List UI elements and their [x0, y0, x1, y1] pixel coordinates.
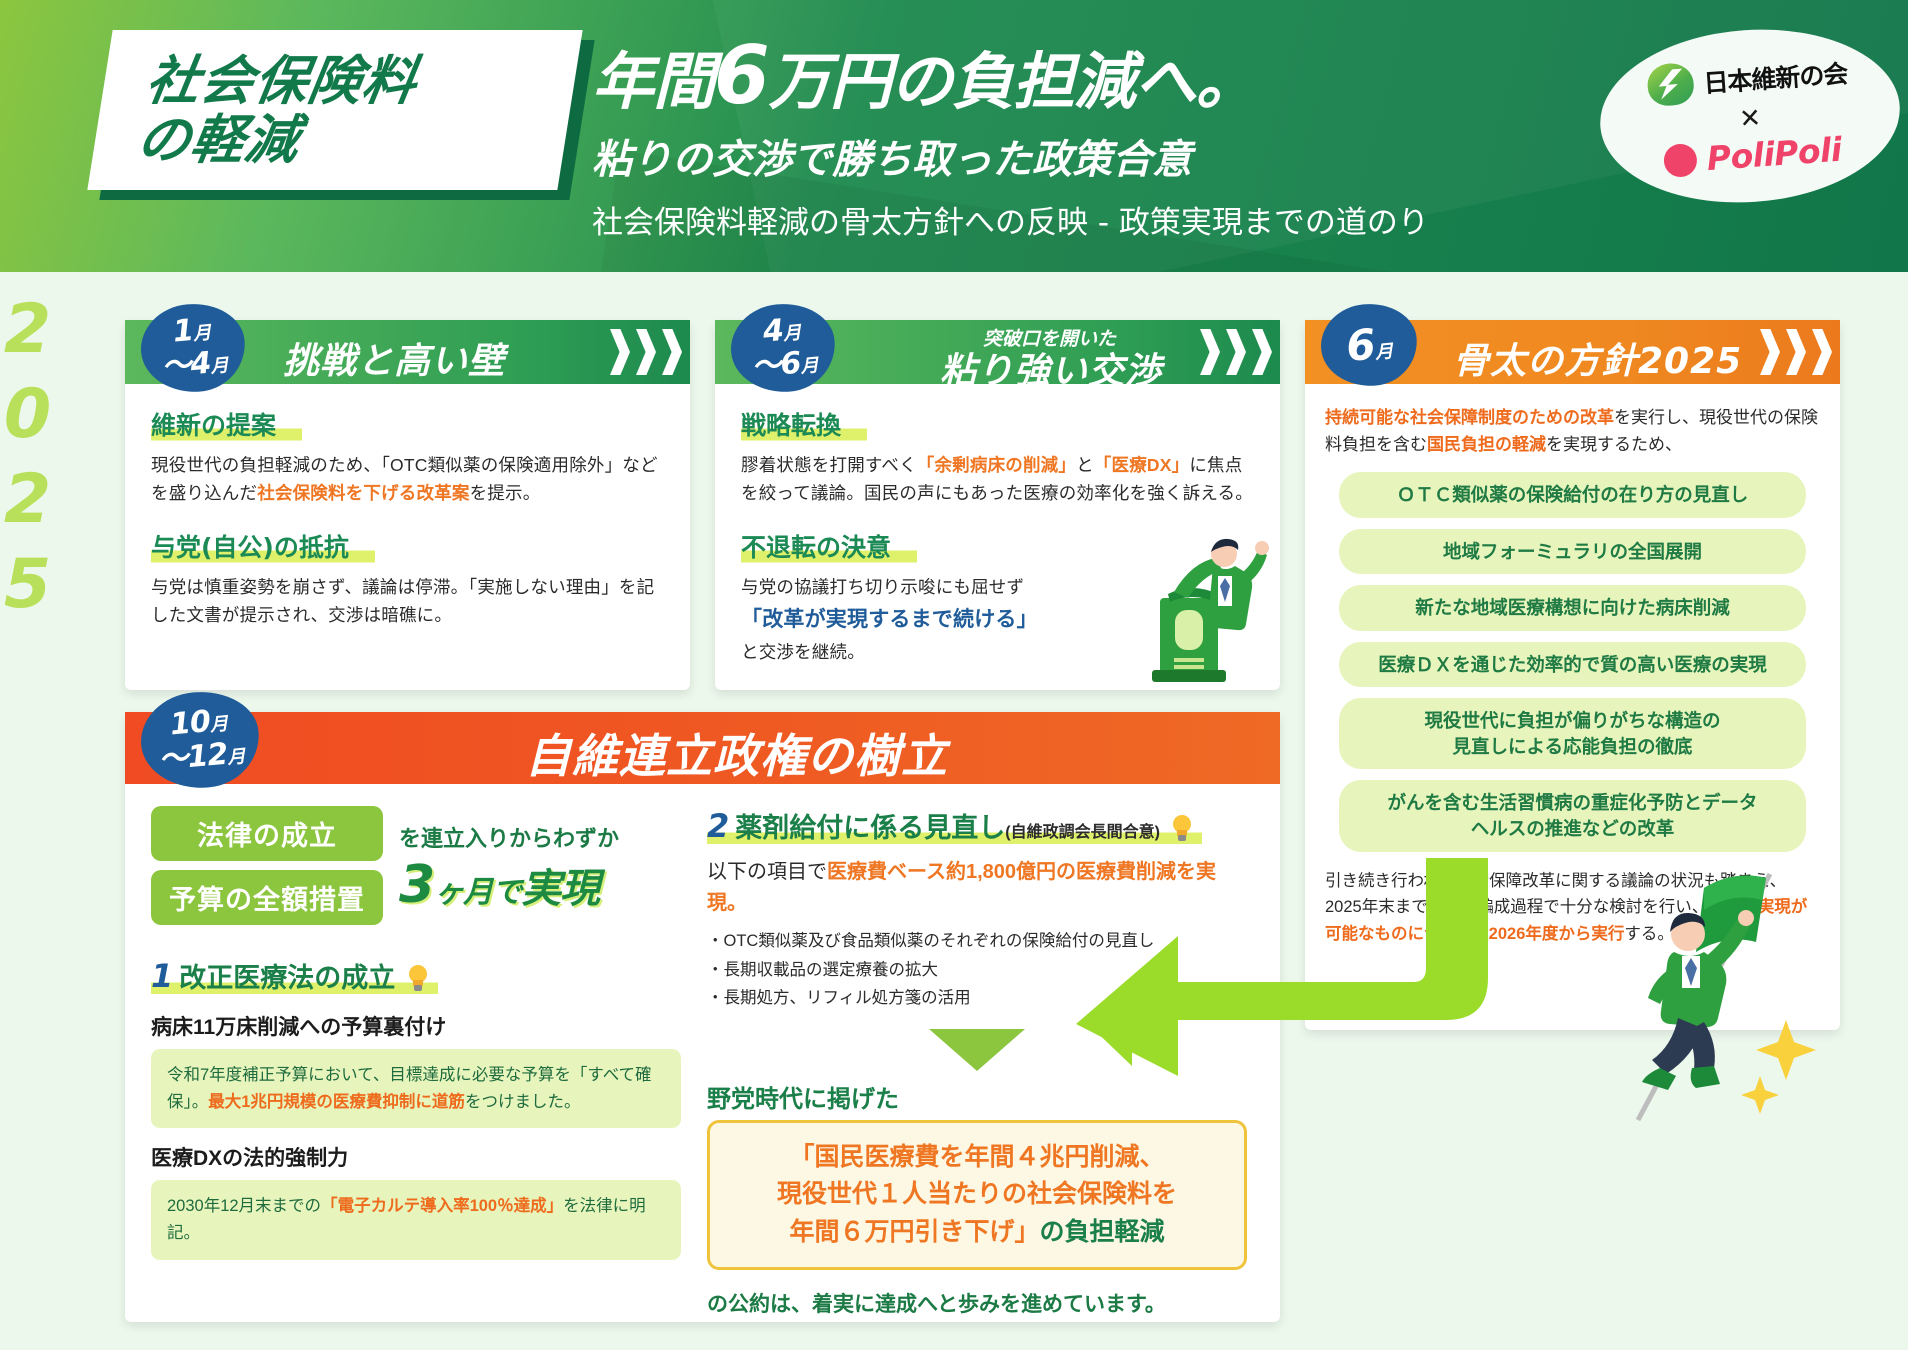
card1-section2-heading: 与党(自公)の抵抗	[151, 528, 375, 564]
flow-arrow-left-icon	[1060, 858, 1620, 1118]
item1-block: 1改正医療法の成立 病床11万床削減への予算裏付け 令和7年度補正予算において、…	[151, 956, 681, 1260]
month-badge-oct-dec: 10月 〜12月	[137, 687, 263, 793]
party-logo-row: 日本維新の会	[1646, 51, 1848, 107]
month-badge-line1: 4月	[762, 315, 801, 348]
month-num-2: 〜12	[157, 737, 229, 778]
month-badge-jan-apr: 1月 〜4月	[137, 300, 248, 397]
three-month-number: 3	[399, 855, 434, 915]
three-month-verb: 実現	[521, 866, 599, 912]
chip-budget-secured: 予算の全額措置	[151, 870, 383, 925]
card-oct-dec-title: 自維連立政権の樹立	[525, 720, 948, 786]
chevron-right-icon-group-1	[540, 320, 690, 384]
item1-subheading-2: 医療DXの法的強制力	[151, 1142, 681, 1172]
month-badge-line1: 1月	[172, 315, 211, 348]
month-badge-apr-jun: 4月 〜6月	[727, 300, 838, 397]
header-headline: 年間6万円の負担減へ。	[592, 34, 1612, 117]
promise-callout-box: 「国民医療費を年間４兆円削減、 現役世代１人当たりの社会保険料を 年間６万円引き…	[707, 1120, 1247, 1271]
card-june-title: 骨太の方針2025	[1453, 332, 1742, 384]
item1-subheading-1: 病床11万床削減への予算裏付け	[151, 1011, 681, 1041]
month-unit-1: 月	[1374, 341, 1393, 363]
polipoli-dot-icon	[1663, 142, 1698, 177]
promise-line3-highlight: 年間６万円引き下げ」	[789, 1218, 1039, 1246]
policy-pill: 地域フォーミュラリの全国展開	[1339, 529, 1806, 575]
card2-section1-heading: 戦略転換	[741, 406, 867, 442]
header-text-block: 年間6万円の負担減へ。 粘りの交渉で勝ち取った政策合意 社会保険料軽減の骨太方針…	[592, 34, 1612, 242]
month-unit-2: 月	[210, 355, 229, 377]
party-logo-label: 日本維新の会	[1702, 54, 1848, 100]
card-jan-apr-band: 1月 〜4月 挑戦と高い壁	[125, 320, 690, 384]
month-unit-1: 月	[192, 322, 211, 344]
policy-pill: 医療ＤＸを通じた効率的で質の高い医療の実現	[1339, 642, 1806, 688]
page-title: 社会保険料 の軽減	[106, 34, 581, 189]
partner-logo-label: PoliPoli	[1705, 129, 1842, 177]
achievement-chips-row: 法律の成立 予算の全額措置 を連立入りからわずか 3ヶ月で実現	[151, 806, 681, 934]
item1-note-1: 令和7年度補正予算において、目標達成に必要な予算を「すべて確保」。最大1兆円規模…	[151, 1049, 681, 1128]
month-unit-1: 月	[782, 322, 801, 344]
item1-note2-text-a: 2030年12月末までの	[167, 1197, 321, 1215]
card3-lead-highlight-2: 国民負担の軽減	[1427, 435, 1546, 454]
promise-line3-tail: の負担軽減	[1040, 1218, 1165, 1246]
item1-note-2: 2030年12月末までの「電子カルテ導入率100％達成」を法律に明記。	[151, 1180, 681, 1259]
month-unit-2: 月	[800, 355, 819, 377]
item1-note2-highlight: 「電子カルテ導入率100％達成」	[321, 1197, 563, 1215]
achievement-chips: 法律の成立 予算の全額措置	[151, 806, 383, 934]
three-month-particle: で	[492, 875, 521, 910]
card-apr-jun-band: 4月 〜6月 突破口を開いた 粘り強い交渉	[715, 320, 1280, 384]
card-jan-apr: 1月 〜4月 挑戦と高い壁 維新の提案 現役世代の負担軽減のため、「OTC類似薬…	[125, 320, 690, 690]
headline-prefix: 年間	[592, 45, 714, 118]
card2-s2-quote: 「改革が実現するまで続ける」	[741, 603, 1116, 637]
promise-line-1: 「国民医療費を年間４兆円削減、	[728, 1139, 1226, 1177]
partner-logo-row: PoliPoli	[1663, 129, 1843, 180]
headline-suffix: 万円の負担減へ。	[769, 45, 1257, 118]
card-apr-jun: 4月 〜6月 突破口を開いた 粘り強い交渉 戦略転換 膠着状態を打開すべく「余剰…	[715, 320, 1280, 690]
month-num-1: 1	[172, 313, 195, 350]
card3-lead-paragraph: 持続可能な社会保障制度のための改革を実行し、現役世代の保険料負担を含む国民負担の…	[1325, 404, 1820, 458]
item1-note1-text-b: をつけました。	[465, 1093, 581, 1111]
card-apr-jun-body: 戦略転換 膠着状態を打開すべく「余剰病床の削減」と「医療DX」に焦点を絞って議論…	[715, 384, 1280, 686]
month-badge-line1: 10月	[169, 706, 228, 741]
card3-lead-highlight-1: 持続可能な社会保障制度のための改革	[1325, 408, 1614, 427]
policy-pill: がんを含む生活習慣病の重症化予防とデータ ヘルスの推進などの改革	[1339, 780, 1806, 851]
card4-left-column: 法律の成立 予算の全額措置 を連立入りからわずか 3ヶ月で実現 1改正医療法の成…	[151, 806, 681, 1318]
chip-law-enacted: 法律の成立	[151, 806, 383, 861]
card1-section2-paragraph: 与党は慎重姿勢を崩さず、議論は停滞。「実施しない理由」を記した文書が提示され、交…	[151, 573, 664, 630]
month-num-2: 〜4	[160, 346, 212, 385]
card3-lead-text-end: を実現するため、	[1546, 435, 1682, 454]
month-unit-1: 月	[209, 714, 228, 736]
policy-pill: 新たな地域医療構想に向けた病床削減	[1339, 585, 1806, 631]
lightbulb-icon	[406, 963, 430, 993]
item1-note1-highlight: 最大1兆円規模の医療費抑制に道筋	[208, 1093, 465, 1111]
policy-pill: 現役世代に負担が偏りがちな構造の 見直しによる応能負担の徹底	[1339, 698, 1806, 769]
runner-with-flag-illustration	[1600, 870, 1830, 1130]
header-subheadline: 粘りの交渉で勝ち取った政策合意	[592, 127, 1612, 185]
item1-heading: 1改正医療法の成立	[151, 956, 438, 995]
header-banner: 社会保険料 の軽減 年間6万円の負担減へ。 粘りの交渉で勝ち取った政策合意 社会…	[0, 0, 1908, 272]
item2-heading: 2薬剤給付に係る見直し(自維政調会長間合意)	[707, 806, 1202, 845]
item1-number: 1	[151, 957, 173, 995]
three-month-callout: 3ヶ月で実現	[399, 855, 619, 915]
promise-line-2: 現役世代１人当たりの社会保険料を	[728, 1176, 1226, 1214]
month-num-1: 10	[169, 704, 212, 742]
item2-lead-text-a: 以下の項目で	[707, 861, 827, 883]
headline-number: 6	[714, 29, 769, 122]
year-side-label: 2025	[0, 290, 61, 630]
card2-s2-text-a: 与党の協議打ち切り示唆にも屈せず	[741, 577, 1024, 597]
month-badge-line2: 〜6月	[750, 347, 818, 383]
month-num-1: 6	[1344, 320, 1376, 371]
ishin-leaf-icon	[1646, 61, 1695, 106]
card1-s1-text-b: を提示。	[470, 483, 541, 503]
month-badge-june: 6月	[1318, 300, 1421, 390]
page-title-line2: の軽減	[133, 114, 568, 168]
card2-s1-text-a: 膠着状態を打開すべく	[741, 455, 917, 475]
month-badge-line1: 6月	[1345, 322, 1394, 368]
card2-s1-text-mid: と	[1076, 455, 1094, 475]
month-badge-line2: 〜12月	[157, 738, 245, 775]
card1-s1-highlight: 社会保険料を下げる改革案	[257, 483, 469, 503]
item2-title: 薬剤給付に係る見直し	[735, 813, 1005, 843]
card-jan-apr-body: 維新の提案 現役世代の負担軽減のため、「OTC類似薬の保険適用除外」などを盛り込…	[125, 384, 690, 649]
card1-section1-heading: 維新の提案	[151, 406, 302, 442]
card-june-band: 6月 骨太の方針2025	[1305, 320, 1840, 384]
month-badge-line2: 〜4月	[160, 347, 228, 383]
card2-s2-text-b: と交渉を継続。	[741, 642, 865, 662]
item1-title: 改正医療法の成立	[179, 963, 395, 993]
promise-line-3: 年間６万円引き下げ」の負担軽減	[728, 1214, 1226, 1252]
card2-s1-highlight-2: 「医療DX」	[1094, 455, 1190, 475]
card2-section2-paragraph: 与党の協議打ち切り示唆にも屈せず 「改革が実現するまで続ける」 と交渉を継続。	[741, 573, 1116, 667]
cross-icon: ✕	[1738, 104, 1762, 131]
month-num-2: 〜6	[750, 346, 802, 385]
coalition-note: を連立入りからわずか	[399, 825, 619, 853]
down-arrow-icon	[929, 1029, 1025, 1071]
item2-number: 2	[707, 807, 729, 845]
policy-pill: ＯＴＣ類似薬の保険給付の在り方の見直し	[1339, 472, 1806, 518]
lightbulb-icon	[1170, 813, 1194, 843]
item2-paren-note: (自維政調会長間合意)	[1005, 824, 1160, 841]
achievement-speed-note: を連立入りからわずか 3ヶ月で実現	[399, 825, 619, 915]
card2-s1-highlight-1: 「余剰病床の削減」	[917, 455, 1076, 475]
header-caption: 社会保険料軽減の骨太方針への反映 - 政策実現までの道のり	[592, 197, 1612, 242]
card-apr-jun-title: 粘り強い交渉	[940, 342, 1162, 394]
card2-section1-paragraph: 膠着状態を打開すべく「余剰病床の削減」と「医療DX」に焦点を絞って議論。国民の声…	[741, 451, 1254, 508]
month-num-1: 4	[762, 313, 785, 350]
closing-statement: の公約は、着実に達成へと歩みを進めています。	[707, 1288, 1247, 1318]
month-unit-2: 月	[227, 746, 246, 768]
card-oct-dec-band: 10月 〜12月 自維連立政権の樹立	[125, 712, 1280, 784]
logo-lockup: 日本維新の会 ✕ PoliPoli	[1594, 20, 1905, 213]
speaker-at-podium-illustration	[1112, 536, 1272, 686]
card2-section2-heading: 不退転の決意	[741, 528, 917, 564]
card-jan-apr-title: 挑戦と高い壁	[283, 332, 505, 384]
three-month-unit: ヶ月	[434, 875, 492, 910]
page-title-line1: 社会保険料	[142, 55, 577, 109]
card1-section1-paragraph: 現役世代の負担軽減のため、「OTC類似薬の保険適用除外」などを盛り込んだ社会保険…	[151, 451, 664, 508]
